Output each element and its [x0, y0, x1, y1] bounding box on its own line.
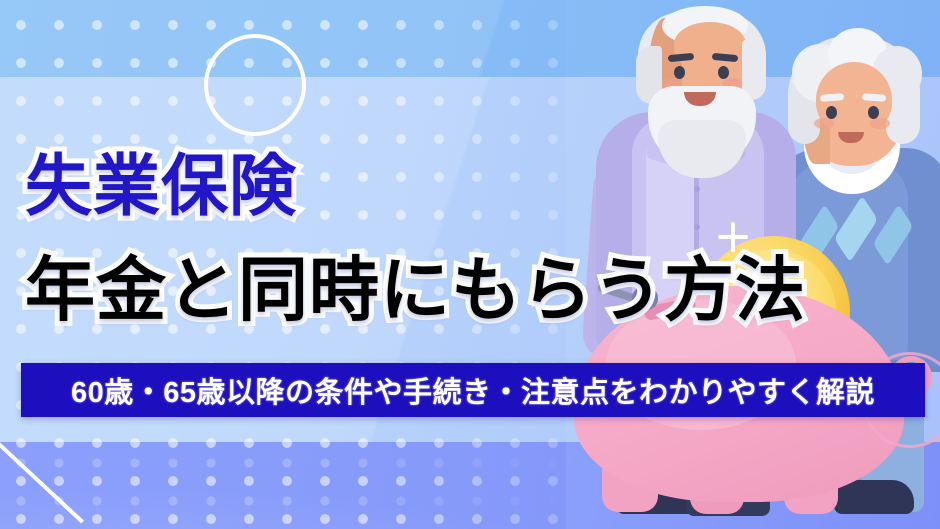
subtitle-text: 60歳・65歳以降の条件や手続き・注意点をわかりやすく解説	[71, 369, 875, 411]
banner-canvas: 失業保険 年金と同時にもらう方法 60歳・65歳以降の条件や手続き・注意点をわか…	[0, 0, 940, 529]
subtitle-bar: 60歳・65歳以降の条件や手続き・注意点をわかりやすく解説	[21, 363, 925, 417]
title-line-2: 年金と同時にもらう方法	[25, 255, 806, 325]
banner-text-block: 失業保険 年金と同時にもらう方法 60歳・65歳以降の条件や手続き・注意点をわか…	[0, 0, 940, 529]
title-line-1: 失業保険	[25, 153, 297, 220]
